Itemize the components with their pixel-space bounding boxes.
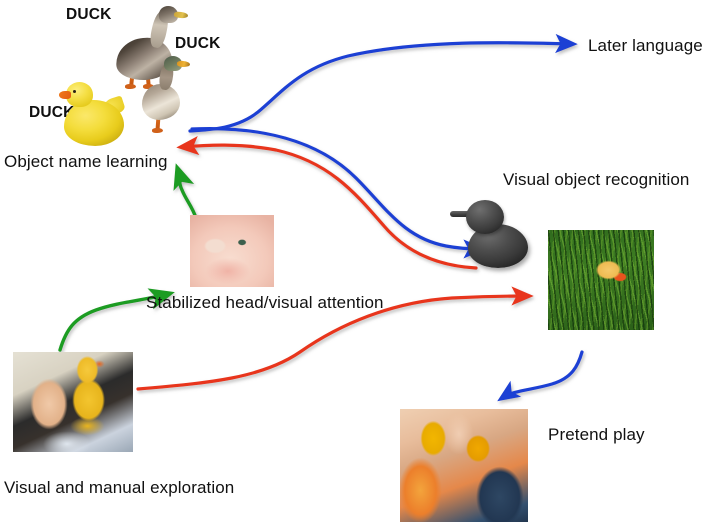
children-with-cups-photo [400,409,528,522]
baby-face-photo [190,215,274,287]
arrow-attention-to-object-name-learning [178,170,196,218]
node-label-later-language: Later language [588,36,703,56]
node-label-visual-object-recognition: Visual object recognition [503,170,689,190]
node-label-object-name-learning: Object name learning [4,152,168,172]
brown-duck-photo [142,54,198,138]
yellow-rubber-duck-photo [58,72,138,150]
arrow-object-name-learning-to-later-language [190,43,572,131]
node-label-pretend-play: Pretend play [548,425,645,445]
dark-duck-silhouette-shape [456,198,552,276]
rubber-duck-in-grass-photo [548,230,654,330]
arrow-visual-object-recognition-to-pretend-play [502,352,582,398]
figure-canvas: DUCK DUCK DUCK Object name learning Stab… [0,0,704,522]
baby-holding-duck-photo [13,352,133,452]
node-label-visual-manual-exploration: Visual and manual exploration [4,478,234,498]
node-label-stabilized-attention: Stabilized head/visual attention [146,293,384,313]
duck-word-1: DUCK [66,6,112,24]
